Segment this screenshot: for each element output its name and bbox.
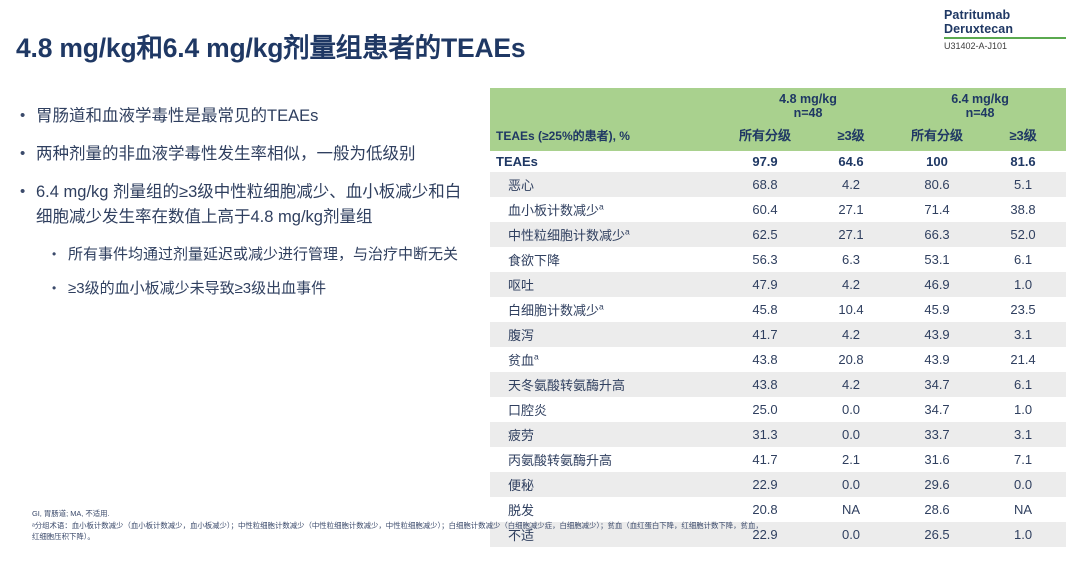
table-body: TEAEs97.964.610081.6恶心68.84.280.65.1血小板计…: [490, 151, 1066, 547]
value-cell-dose2-all: 34.7: [894, 397, 980, 422]
teae-table: 4.8 mg/kg n=48 6.4 mg/kg n=48 TEAEs (≥25…: [490, 88, 1066, 547]
table-row: 腹泻41.74.243.93.1: [490, 322, 1066, 347]
value-cell-dose2-all: 100: [894, 151, 980, 172]
value-cell-dose2-g3: 6.1: [980, 247, 1066, 272]
footnote-abbreviations: GI, 胃肠道; MA, 不适用.: [32, 508, 1062, 520]
value-cell-dose1-all: 22.9: [722, 472, 808, 497]
list-item: • 胃肠道和血液学毒性是最常见的TEAEs: [20, 104, 470, 129]
dose-group-1-header: 4.8 mg/kg n=48: [722, 88, 894, 122]
value-cell-dose2-all: 43.9: [894, 347, 980, 372]
logo-line-2: Deruxtecan: [944, 22, 1066, 36]
slide: Patritumab Deruxtecan U31402-A-J101 4.8 …: [0, 0, 1080, 562]
value-cell-dose2-all: 31.6: [894, 447, 980, 472]
value-cell-dose1-all: 47.9: [722, 272, 808, 297]
value-cell-dose1-all: 45.8: [722, 297, 808, 322]
value-cell-dose2-g3: 5.1: [980, 172, 1066, 197]
table-row: 中性粒细胞计数减少a62.527.166.352.0: [490, 222, 1066, 247]
value-cell-dose1-g3: 27.1: [808, 197, 894, 222]
value-cell-dose2-g3: 0.0: [980, 472, 1066, 497]
table-row: 便秘22.90.029.60.0: [490, 472, 1066, 497]
table-row: 贫血a43.820.843.921.4: [490, 347, 1066, 372]
value-cell-dose1-all: 97.9: [722, 151, 808, 172]
value-cell-dose1-all: 31.3: [722, 422, 808, 447]
value-cell-dose2-all: 80.6: [894, 172, 980, 197]
table-row: 食欲下降56.36.353.16.1: [490, 247, 1066, 272]
value-cell-dose2-g3: 6.1: [980, 372, 1066, 397]
value-cell-dose1-g3: 64.6: [808, 151, 894, 172]
value-cell-dose2-g3: 1.0: [980, 272, 1066, 297]
table-row: 呕吐47.94.246.91.0: [490, 272, 1066, 297]
row-label-cell: 便秘: [490, 472, 722, 497]
footnote-marker: a: [599, 302, 604, 312]
value-cell-dose1-g3: 20.8: [808, 347, 894, 372]
value-cell-dose2-g3: 23.5: [980, 297, 1066, 322]
value-cell-dose1-g3: 4.2: [808, 272, 894, 297]
list-item: • 6.4 mg/kg 剂量组的≥3级中性粒细胞减少、血小板减少和白细胞减少发生…: [20, 180, 470, 230]
value-cell-dose2-all: 46.9: [894, 272, 980, 297]
value-cell-dose1-g3: 4.2: [808, 372, 894, 397]
bullet-marker-icon: •: [20, 180, 36, 230]
value-cell-dose2-all: 66.3: [894, 222, 980, 247]
list-item-text: 两种剂量的非血液学毒性发生率相似，一般为低级别: [36, 142, 416, 167]
logo-line-1: Patritumab: [944, 8, 1066, 22]
value-cell-dose1-all: 62.5: [722, 222, 808, 247]
dose-group-1-dose: 4.8 mg/kg: [779, 92, 837, 106]
list-item: • 两种剂量的非血液学毒性发生率相似，一般为低级别: [20, 142, 470, 167]
footnotes: GI, 胃肠道; MA, 不适用. ᵃ分组术语：血小板计数减少（血小板计数减少，…: [32, 508, 1062, 543]
logo-underline-rule: [944, 37, 1066, 39]
teae-table-container: 4.8 mg/kg n=48 6.4 mg/kg n=48 TEAEs (≥25…: [490, 88, 1066, 547]
sub-list-item-text: 所有事件均通过剂量延迟或减少进行管理，与治疗中断无关: [68, 243, 458, 266]
row-label-cell: 疲劳: [490, 422, 722, 447]
value-cell-dose2-all: 43.9: [894, 322, 980, 347]
value-cell-dose1-g3: 2.1: [808, 447, 894, 472]
table-header-sub-row: TEAEs (≥25%的患者), % 所有分级 ≥3级 所有分级 ≥3级: [490, 122, 1066, 151]
value-cell-dose1-g3: 6.3: [808, 247, 894, 272]
table-row-header-label: TEAEs (≥25%的患者), %: [490, 122, 722, 151]
row-label-cell: 血小板计数减少a: [490, 197, 722, 222]
value-cell-dose1-all: 25.0: [722, 397, 808, 422]
dose-group-2-header: 6.4 mg/kg n=48: [894, 88, 1066, 122]
value-cell-dose2-g3: 52.0: [980, 222, 1066, 247]
value-cell-dose1-g3: 0.0: [808, 397, 894, 422]
row-label-cell: 白细胞计数减少a: [490, 297, 722, 322]
table-row: 白细胞计数减少a45.810.445.923.5: [490, 297, 1066, 322]
table-row: 丙氨酸转氨酶升高41.72.131.67.1: [490, 447, 1066, 472]
row-label-cell: 食欲下降: [490, 247, 722, 272]
row-label-cell: 恶心: [490, 172, 722, 197]
dose-group-1-n: n=48: [794, 106, 823, 120]
value-cell-dose2-all: 53.1: [894, 247, 980, 272]
page-title: 4.8 mg/kg和6.4 mg/kg剂量组患者的TEAEs: [16, 26, 525, 65]
value-cell-dose1-all: 41.7: [722, 322, 808, 347]
value-cell-dose1-all: 56.3: [722, 247, 808, 272]
footnote-marker: a: [625, 227, 630, 237]
footnote-grouped-terms-cont: 红细胞压积下降）。: [32, 531, 1062, 543]
sub-list-item: • ≥3级的血小板减少未导致≥3级出血事件: [20, 277, 470, 300]
bullet-marker-icon: •: [20, 142, 36, 167]
table-row: 口腔炎25.00.034.71.0: [490, 397, 1066, 422]
value-cell-dose1-all: 41.7: [722, 447, 808, 472]
column-header-all-grades-1: 所有分级: [722, 122, 808, 151]
footnote-marker: a: [599, 202, 604, 212]
column-header-grade3plus-1: ≥3级: [808, 122, 894, 151]
value-cell-dose1-g3: 4.2: [808, 322, 894, 347]
header-empty-cell: [490, 88, 722, 122]
value-cell-dose2-all: 33.7: [894, 422, 980, 447]
product-logo: Patritumab Deruxtecan U31402-A-J101: [944, 8, 1066, 52]
value-cell-dose1-all: 43.8: [722, 347, 808, 372]
row-label-cell: TEAEs: [490, 151, 722, 172]
value-cell-dose1-g3: 4.2: [808, 172, 894, 197]
value-cell-dose2-g3: 3.1: [980, 322, 1066, 347]
table-row: 天冬氨酸转氨酶升高43.84.234.76.1: [490, 372, 1066, 397]
footnote-grouped-terms: ᵃ分组术语：血小板计数减少（血小板计数减少，血小板减少）；中性粒细胞计数减少（中…: [32, 520, 1062, 532]
value-cell-dose1-g3: 0.0: [808, 472, 894, 497]
value-cell-dose2-all: 29.6: [894, 472, 980, 497]
value-cell-dose1-all: 68.8: [722, 172, 808, 197]
bullet-marker-icon: •: [52, 277, 68, 300]
value-cell-dose2-g3: 38.8: [980, 197, 1066, 222]
column-header-grade3plus-2: ≥3级: [980, 122, 1066, 151]
value-cell-dose1-g3: 0.0: [808, 422, 894, 447]
value-cell-dose2-g3: 21.4: [980, 347, 1066, 372]
value-cell-dose1-all: 43.8: [722, 372, 808, 397]
bullet-list: • 胃肠道和血液学毒性是最常见的TEAEs • 两种剂量的非血液学毒性发生率相似…: [20, 104, 470, 311]
row-label-cell: 口腔炎: [490, 397, 722, 422]
value-cell-dose1-g3: 27.1: [808, 222, 894, 247]
row-label-cell: 中性粒细胞计数减少a: [490, 222, 722, 247]
table-row: 恶心68.84.280.65.1: [490, 172, 1066, 197]
value-cell-dose2-g3: 1.0: [980, 397, 1066, 422]
value-cell-dose1-all: 60.4: [722, 197, 808, 222]
value-cell-dose2-g3: 3.1: [980, 422, 1066, 447]
sub-list-item-text: ≥3级的血小板减少未导致≥3级出血事件: [68, 277, 326, 300]
row-label-cell: 贫血a: [490, 347, 722, 372]
list-item-text: 6.4 mg/kg 剂量组的≥3级中性粒细胞减少、血小板减少和白细胞减少发生率在…: [36, 180, 470, 230]
dose-group-2-dose: 6.4 mg/kg: [951, 92, 1009, 106]
footnote-marker: a: [534, 352, 539, 362]
bullet-marker-icon: •: [52, 243, 68, 266]
table-row: 血小板计数减少a60.427.171.438.8: [490, 197, 1066, 222]
row-label-cell: 呕吐: [490, 272, 722, 297]
row-label-cell: 丙氨酸转氨酶升高: [490, 447, 722, 472]
dose-group-2-n: n=48: [966, 106, 995, 120]
value-cell-dose1-g3: 10.4: [808, 297, 894, 322]
bullet-marker-icon: •: [20, 104, 36, 129]
sub-list-item: • 所有事件均通过剂量延迟或减少进行管理，与治疗中断无关: [20, 243, 470, 266]
column-header-all-grades-2: 所有分级: [894, 122, 980, 151]
row-label-cell: 腹泻: [490, 322, 722, 347]
value-cell-dose2-all: 34.7: [894, 372, 980, 397]
value-cell-dose2-g3: 7.1: [980, 447, 1066, 472]
value-cell-dose2-g3: 81.6: [980, 151, 1066, 172]
table-header: 4.8 mg/kg n=48 6.4 mg/kg n=48 TEAEs (≥25…: [490, 88, 1066, 151]
value-cell-dose2-all: 71.4: [894, 197, 980, 222]
row-label-cell: 天冬氨酸转氨酶升高: [490, 372, 722, 397]
logo-study-code: U31402-A-J101: [944, 41, 1066, 52]
table-row: TEAEs97.964.610081.6: [490, 151, 1066, 172]
list-item-text: 胃肠道和血液学毒性是最常见的TEAEs: [36, 104, 318, 129]
table-header-dose-row: 4.8 mg/kg n=48 6.4 mg/kg n=48: [490, 88, 1066, 122]
table-row: 疲劳31.30.033.73.1: [490, 422, 1066, 447]
value-cell-dose2-all: 45.9: [894, 297, 980, 322]
